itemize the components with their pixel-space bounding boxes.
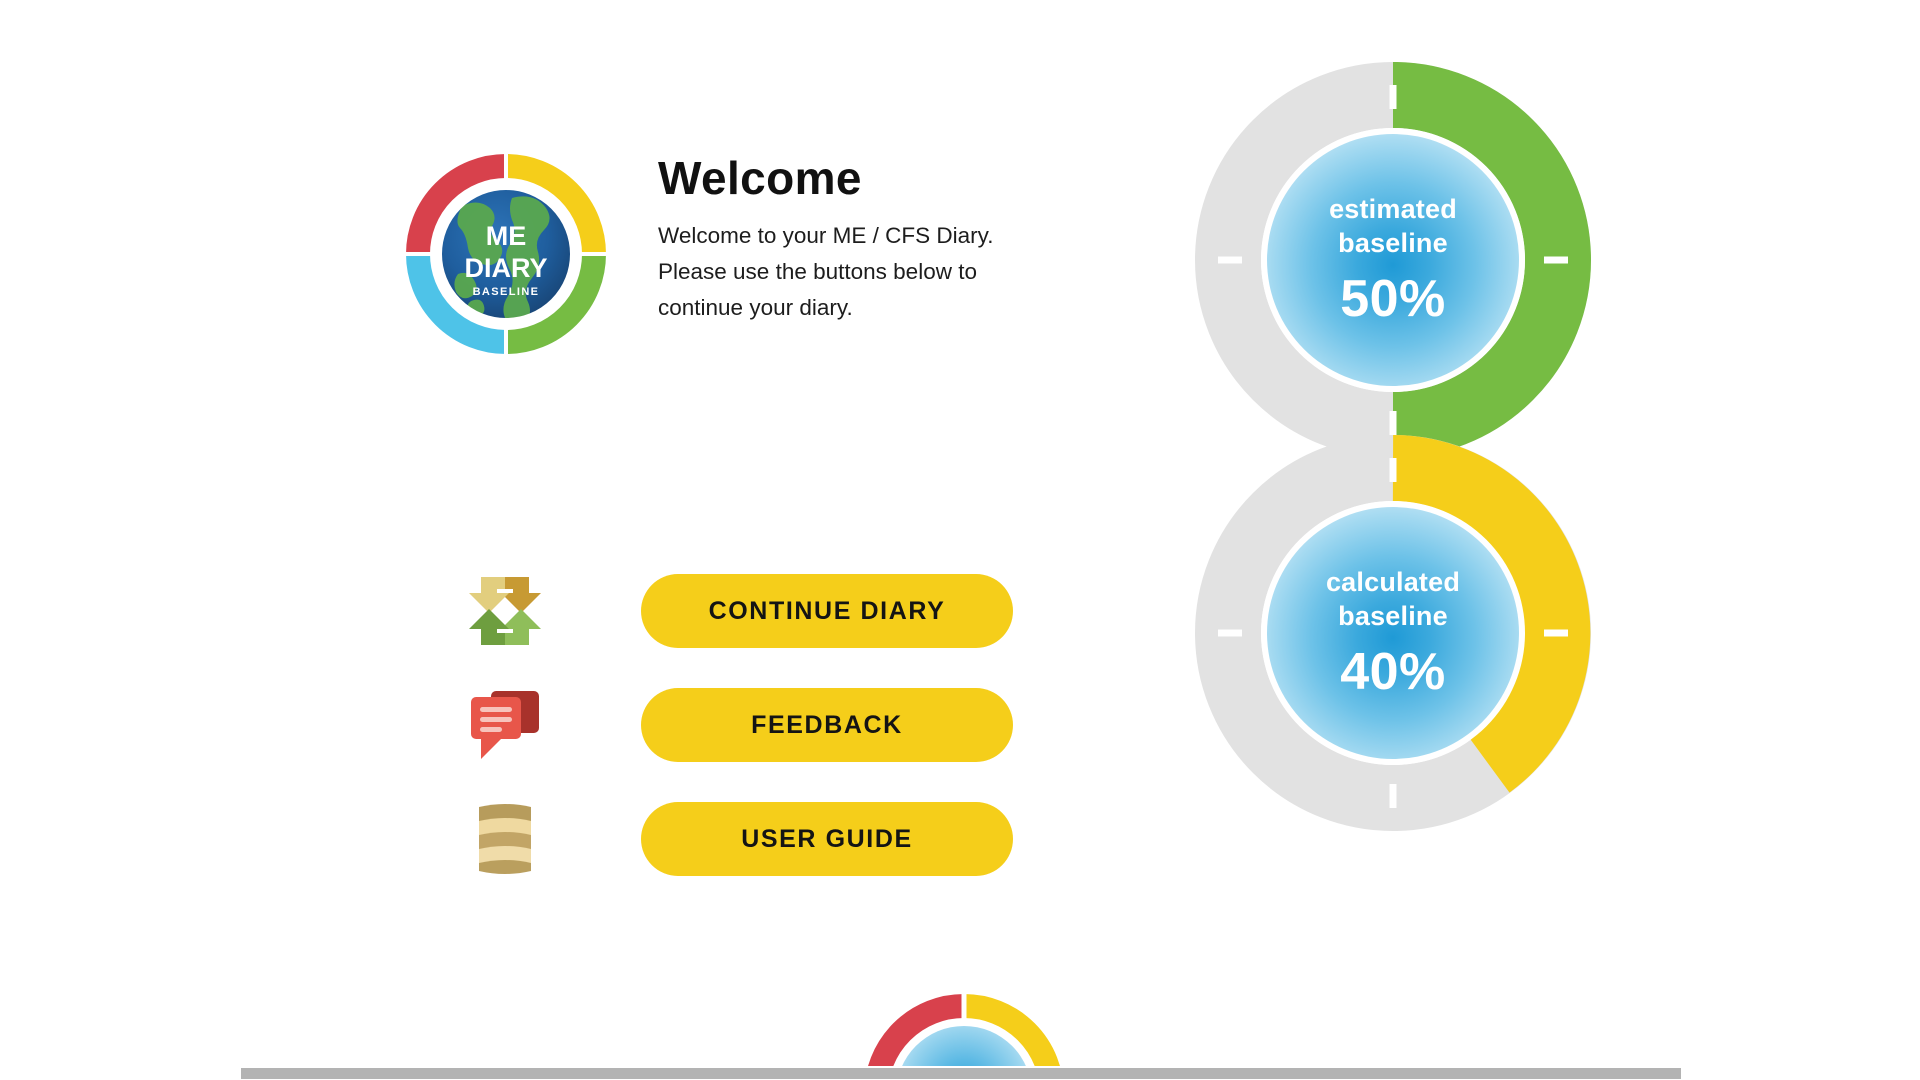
user-guide-button[interactable]: USER GUIDE: [641, 802, 1013, 876]
logo-line-3: BASELINE: [473, 286, 540, 298]
logo-line-1: ME: [486, 221, 527, 251]
me-diary-baseline-logo: ME DIARY BASELINE: [400, 148, 612, 360]
app-root: ME DIARY BASELINE Welcome Welcome to you…: [0, 0, 1920, 1080]
scroll-document-icon: [455, 793, 555, 885]
speech-bubbles-icon: [455, 679, 555, 771]
calculated-baseline-chart: calculated baseline 40%: [1190, 430, 1596, 836]
estimated-baseline-chart: estimated baseline 50%: [1190, 57, 1596, 463]
estimated-baseline-value: 50%: [1340, 270, 1446, 328]
welcome-block: ME DIARY BASELINE Welcome Welcome to you…: [400, 148, 1068, 360]
action-row-continue-diary: CONTINUE DIARY: [455, 565, 1013, 657]
estimated-baseline-label: estimated baseline: [1293, 192, 1493, 260]
page-title: Welcome: [658, 154, 1068, 202]
feedback-button[interactable]: FEEDBACK: [641, 688, 1013, 762]
recycle-arrows-icon: [455, 565, 555, 657]
welcome-text-group: Welcome Welcome to your ME / CFS Diary. …: [658, 148, 1068, 326]
welcome-description: Welcome to your ME / CFS Diary. Please u…: [658, 218, 1068, 326]
calculated-baseline-value: 40%: [1340, 643, 1446, 701]
action-button-list: CONTINUE DIARY FEEDBACK: [455, 565, 1013, 885]
estimated-baseline-center: estimated baseline 50%: [1267, 134, 1519, 386]
action-row-feedback: FEEDBACK: [455, 679, 1013, 771]
logo-svg: ME DIARY BASELINE: [400, 148, 612, 360]
calculated-baseline-center: calculated baseline 40%: [1267, 507, 1519, 759]
logo-line-2: DIARY: [464, 253, 547, 283]
calculated-baseline-label: calculated baseline: [1293, 565, 1493, 633]
horizontal-scrollbar-thumb[interactable]: [241, 1068, 1681, 1079]
continue-diary-button[interactable]: CONTINUE DIARY: [641, 574, 1013, 648]
action-row-user-guide: USER GUIDE: [455, 793, 1013, 885]
horizontal-scrollbar-track[interactable]: [0, 1066, 1920, 1080]
